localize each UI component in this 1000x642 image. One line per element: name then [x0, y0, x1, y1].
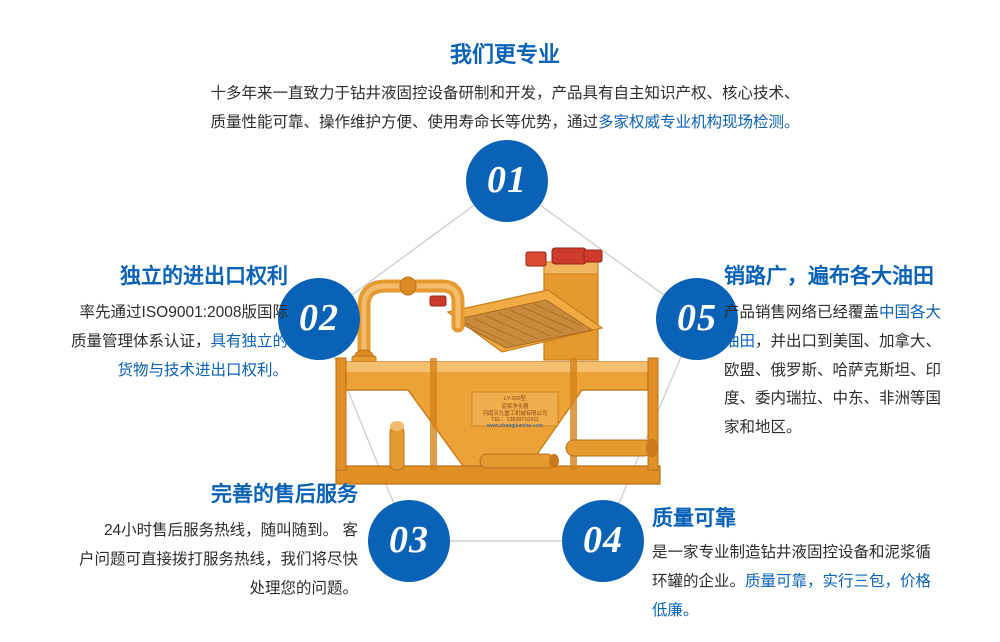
advantage-05-line-1: 产品销售网络已经覆盖中国各大 [724, 299, 992, 328]
advantage-02-line-1: 率先通过ISO9001:2008版国际 [18, 299, 288, 328]
advantage-02-line-3: 货物与技术进出口权利。 [18, 357, 288, 386]
advantage-02-line-2: 质量管理体系认证，具有独立的 [18, 328, 288, 357]
advantage-03-line-1: 24小时售后服务热线，随叫随到。 客 [18, 517, 358, 546]
svg-text:河南天九重工机械有限公司: 河南天九重工机械有限公司 [483, 409, 548, 417]
node-number-04-label: 04 [583, 518, 623, 562]
advantage-body-02: 率先通过ISO9001:2008版国际 质量管理体系认证，具有独立的 货物与技术… [18, 299, 288, 385]
advantage-body-04: 是一家专业制造钻井液固控设备和泥浆循 环罐的企业。质量可靠，实行三包，价格 低廉… [652, 539, 992, 625]
advantage-03-line-3: 处理您的问题。 [18, 575, 358, 604]
node-number-02[interactable]: 02 [278, 278, 360, 360]
svg-text:泥浆净化器: 泥浆净化器 [502, 402, 530, 410]
advantage-block-04: 质量可靠 是一家专业制造钻井液固控设备和泥浆循 环罐的企业。质量可靠，实行三包，… [652, 506, 992, 625]
advantage-title-02: 独立的进出口权利 [18, 264, 288, 289]
advantage-05-line-1-highlight: 中国各大 [879, 304, 941, 321]
advantage-01-line-1: 十多年来一直致力于钻井液固控设备研制和开发，产品具有自主知识产权、核心技术、 [140, 80, 870, 109]
advantage-01-line-2: 质量性能可靠、操作维护方便、使用寿命长等优势，通过多家权威专业机构现场检测。 [140, 109, 870, 138]
advantage-03-line-2: 户问题可直接拨打服务热线，我们将尽快 [18, 546, 358, 575]
svg-text:www.zhangjiumine.com: www.zhangjiumine.com [486, 423, 544, 429]
node-number-01[interactable]: 01 [466, 140, 548, 222]
advantage-title-03: 完善的售后服务 [18, 482, 358, 507]
advantage-title-05: 销路广，遍布各大油田 [724, 264, 992, 289]
advantage-04-line-3: 低廉。 [652, 597, 992, 626]
advantage-title-04: 质量可靠 [652, 506, 992, 531]
advantage-title-01: 我们更专业 [140, 42, 870, 68]
advantage-05-line-2: 油田，并出口到美国、加拿大、 [724, 328, 992, 357]
advantage-05-line-4: 度、委内瑞拉、中东、非洲等国 [724, 385, 992, 414]
advantage-01-highlight: 多家权威专业机构现场检测。 [598, 114, 800, 131]
advantage-02-line-2-plain: 质量管理体系认证， [71, 333, 211, 350]
advantage-block-02: 独立的进出口权利 率先通过ISO9001:2008版国际 质量管理体系认证，具有… [18, 264, 288, 385]
advantage-block-05: 销路广，遍布各大油田 产品销售网络已经覆盖中国各大 油田，并出口到美国、加拿大、… [724, 264, 992, 443]
advantage-01-line-2-plain: 质量性能可靠、操作维护方便、使用寿命长等优势，通过 [210, 114, 598, 131]
advantage-05-line-5: 家和地区。 [724, 414, 992, 443]
node-number-03[interactable]: 03 [368, 500, 450, 582]
node-number-05-label: 05 [677, 296, 717, 340]
advantage-02-line-2-highlight: 具有独立的 [210, 333, 288, 350]
node-number-03-label: 03 [389, 518, 429, 562]
node-number-02-label: 02 [299, 296, 339, 340]
advantage-04-line-2-plain: 环罐的企业。 [652, 573, 745, 590]
advantages-diagram: LY-200型 泥浆净化器 河南天九重工机械有限公司 TEL：138387109… [0, 0, 1000, 642]
advantage-05-line-2-plain: ，并出口到美国、加拿大、 [755, 333, 941, 350]
advantage-04-line-2: 环罐的企业。质量可靠，实行三包，价格 [652, 568, 992, 597]
advantage-05-line-3: 欧盟、俄罗斯、哈萨克斯坦、印 [724, 357, 992, 386]
node-number-01-label: 01 [487, 158, 527, 202]
advantage-05-line-1-plain: 产品销售网络已经覆盖 [724, 304, 879, 321]
svg-text:LY-200型: LY-200型 [504, 394, 526, 402]
advantage-05-line-2-highlight: 油田 [724, 333, 755, 350]
node-number-04[interactable]: 04 [562, 500, 644, 582]
advantage-04-line-2-highlight: 质量可靠，实行三包，价格 [745, 573, 931, 590]
machine-illustration: LY-200型 泥浆净化器 河南天九重工机械有限公司 TEL：138387109… [330, 240, 670, 490]
advantage-04-line-1: 是一家专业制造钻井液固控设备和泥浆循 [652, 539, 992, 568]
advantage-body-03: 24小时售后服务热线，随叫随到。 客 户问题可直接拨打服务热线，我们将尽快 处理… [18, 517, 358, 603]
advantage-body-05: 产品销售网络已经覆盖中国各大 油田，并出口到美国、加拿大、 欧盟、俄罗斯、哈萨克… [724, 299, 992, 442]
advantage-block-01: 我们更专业 十多年来一直致力于钻井液固控设备研制和开发，产品具有自主知识产权、核… [140, 42, 870, 138]
advantage-body-01: 十多年来一直致力于钻井液固控设备研制和开发，产品具有自主知识产权、核心技术、 质… [140, 80, 870, 137]
advantage-block-03: 完善的售后服务 24小时售后服务热线，随叫随到。 客 户问题可直接拨打服务热线，… [18, 482, 358, 603]
